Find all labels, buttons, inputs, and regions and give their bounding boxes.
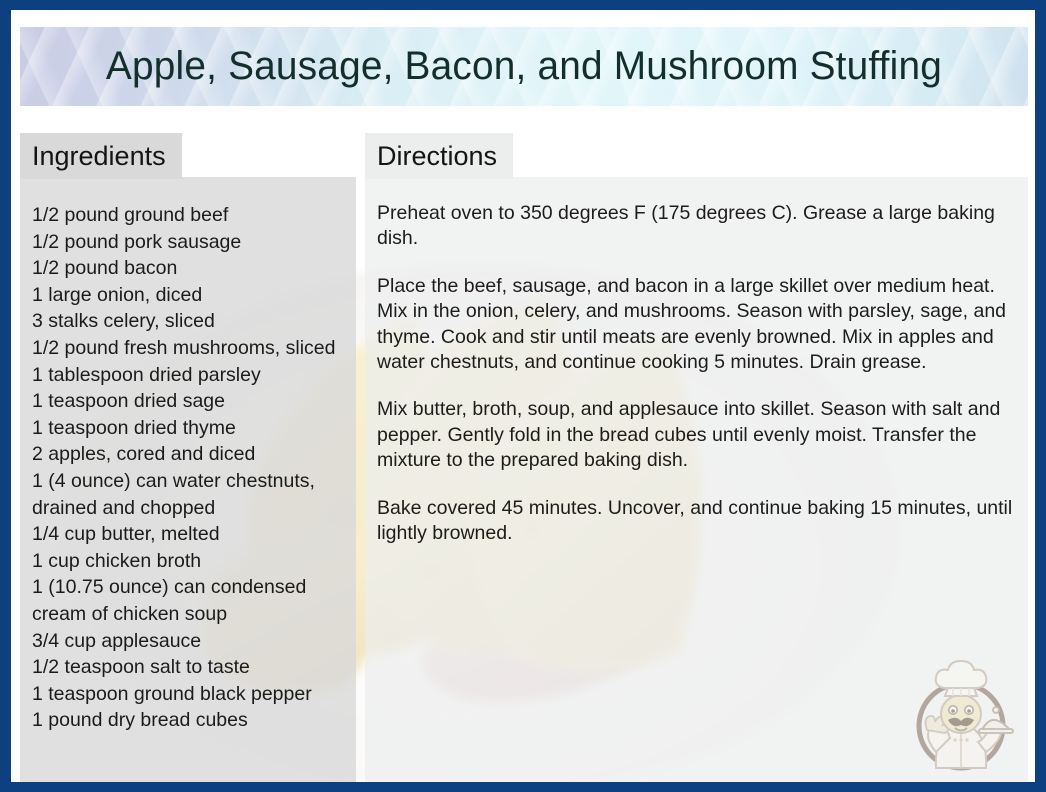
list-item: 3 stalks celery, sliced xyxy=(32,308,346,335)
list-item: 3/4 cup applesauce xyxy=(32,628,346,655)
list-item: 1/2 pound ground beef xyxy=(32,202,346,229)
list-item: 2 apples, cored and diced xyxy=(32,441,346,468)
list-item: 1 teaspoon dried thyme xyxy=(32,415,346,442)
list-item: 1 tablespoon dried parsley xyxy=(32,362,346,389)
recipe-card-inner: Apple, Sausage, Bacon, and Mushroom Stuf… xyxy=(11,10,1035,782)
list-item: 1/2 teaspoon salt to taste xyxy=(32,654,346,681)
list-item: 1 cup chicken broth xyxy=(32,548,346,575)
list-item: 1/2 pound pork sausage xyxy=(32,229,346,256)
direction-step: Mix butter, broth, soup, and applesauce … xyxy=(377,397,1014,473)
ingredients-panel: 1/2 pound ground beef 1/2 pound pork sau… xyxy=(20,177,356,782)
list-item: 1 (4 ounce) can water chestnuts, drained… xyxy=(32,468,346,521)
list-item: 1 teaspoon dried sage xyxy=(32,388,346,415)
directions-panel: Preheat oven to 350 degrees F (175 degre… xyxy=(365,177,1028,782)
list-item: 1 pound dry bread cubes xyxy=(32,707,346,734)
recipe-card: Apple, Sausage, Bacon, and Mushroom Stuf… xyxy=(0,0,1046,792)
list-item: 1/4 cup butter, melted xyxy=(32,521,346,548)
ingredients-heading: Ingredients xyxy=(20,133,182,179)
list-item: 1 (10.75 ounce) can condensed cream of c… xyxy=(32,574,346,627)
ingredients-list: 1/2 pound ground beef 1/2 pound pork sau… xyxy=(32,202,346,734)
direction-step: Place the beef, sausage, and bacon in a … xyxy=(377,274,1014,376)
directions-heading: Directions xyxy=(365,133,513,179)
list-item: 1/2 pound bacon xyxy=(32,255,346,282)
page-title: Apple, Sausage, Bacon, and Mushroom Stuf… xyxy=(106,44,942,89)
list-item: 1 large onion, diced xyxy=(32,282,346,309)
direction-step: Preheat oven to 350 degrees F (175 degre… xyxy=(377,201,1014,252)
recipe-title-banner: Apple, Sausage, Bacon, and Mushroom Stuf… xyxy=(20,27,1028,106)
list-item: 1/2 pound fresh mushrooms, sliced xyxy=(32,335,346,362)
direction-step: Bake covered 45 minutes. Uncover, and co… xyxy=(377,496,1014,547)
list-item: 1 teaspoon ground black pepper xyxy=(32,681,346,708)
